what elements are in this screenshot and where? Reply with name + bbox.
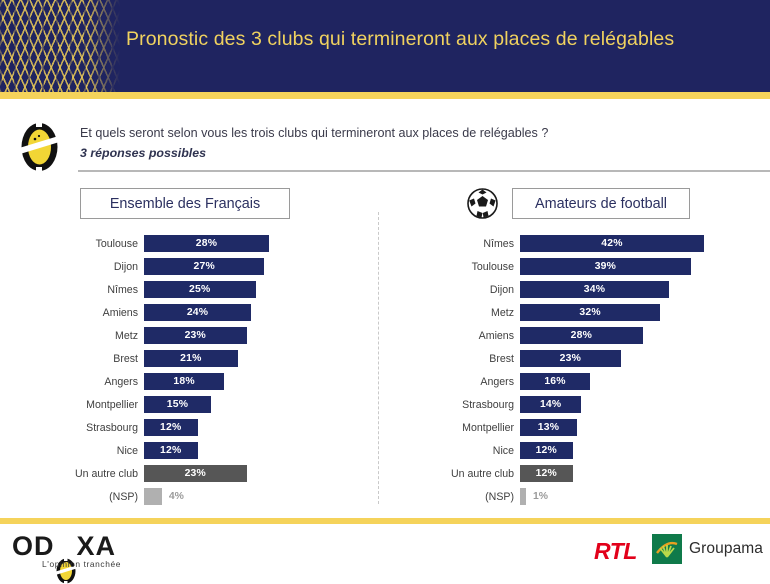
chart-row-label: Metz	[70, 330, 144, 342]
chart-row: Un autre club23%	[70, 462, 370, 485]
chart-row: Metz32%	[440, 301, 765, 324]
chart-bar: 34%	[520, 281, 669, 298]
chart-row: Dijon34%	[440, 278, 765, 301]
chart-bar: 12%	[520, 465, 573, 482]
chart-row: Amiens28%	[440, 324, 765, 347]
chart-row: Un autre club12%	[440, 462, 765, 485]
chart-row: Amiens24%	[70, 301, 370, 324]
chart-row-label: (NSP)	[70, 491, 144, 503]
chart-bar: 23%	[520, 350, 621, 367]
panel-title-ensemble-des-francais: Ensemble des Français	[80, 188, 290, 219]
chart-bar: 13%	[520, 419, 577, 436]
chart-row: Strasbourg12%	[70, 416, 370, 439]
survey-question-note: 3 réponses possibles	[80, 146, 206, 160]
chart-bar-value: 24%	[187, 307, 208, 318]
chart-row-label: Angers	[440, 376, 520, 388]
panel-title-amateurs-de-football: Amateurs de football	[512, 188, 690, 219]
chart-bar-value: 27%	[194, 261, 215, 272]
chart-ensemble-des-francais: Toulouse28%Dijon27%Nîmes25%Amiens24%Metz…	[70, 232, 370, 508]
page-title: Pronostic des 3 clubs qui termineront au…	[126, 28, 756, 51]
chart-bar-track: 13%	[520, 419, 765, 436]
chart-bar: 39%	[520, 258, 691, 275]
chart-row-label: Montpellier	[70, 399, 144, 411]
chart-bar-track: 23%	[520, 350, 765, 367]
chart-bar: 16%	[520, 373, 590, 390]
chart-amateurs-de-football: Nîmes42%Toulouse39%Dijon34%Metz32%Amiens…	[440, 232, 765, 508]
survey-question: Et quels seront selon vous les trois clu…	[80, 126, 720, 140]
chart-bar-track: 1%1%	[520, 488, 765, 505]
chart-bar-track: 12%	[144, 442, 370, 459]
chart-bar-track: 4%4%	[144, 488, 370, 505]
chart-bar-track: 14%	[520, 396, 765, 413]
chart-row-label: Nîmes	[70, 284, 144, 296]
chart-bar-value: 23%	[185, 468, 206, 479]
groupama-mark-icon	[652, 534, 682, 564]
chart-row-label: Amiens	[70, 307, 144, 319]
chart-row-label: Toulouse	[440, 261, 520, 273]
chart-bar-value: 12%	[536, 468, 557, 479]
chart-row: Montpellier15%	[70, 393, 370, 416]
chart-row-label: Un autre club	[70, 468, 144, 480]
chart-bar: 15%	[144, 396, 211, 413]
chart-row-label: Un autre club	[440, 468, 520, 480]
chart-bar-value-outside: 1%	[526, 491, 548, 502]
odoxa-logo: ODXA L'opinion tranchée	[12, 531, 192, 571]
chart-bar-value: 25%	[189, 284, 210, 295]
chart-bar: 28%	[520, 327, 643, 344]
chart-bar-value: 21%	[180, 353, 201, 364]
chart-row: Brest21%	[70, 347, 370, 370]
chart-bar-track: 12%	[520, 442, 765, 459]
chart-row-label: Strasbourg	[70, 422, 144, 434]
chart-row: Nice12%	[440, 439, 765, 462]
chart-row-label: Angers	[70, 376, 144, 388]
football-icon	[466, 187, 499, 220]
chart-row: Angers18%	[70, 370, 370, 393]
chart-bar: 12%	[520, 442, 573, 459]
chart-row: Angers16%	[440, 370, 765, 393]
chart-row-label: Strasbourg	[440, 399, 520, 411]
chart-bar-value-outside: 4%	[162, 491, 184, 502]
chart-row-label: Brest	[440, 353, 520, 365]
chart-row: Nîmes25%	[70, 278, 370, 301]
page-header: Pronostic des 3 clubs qui termineront au…	[0, 0, 770, 92]
chart-bar: 28%	[144, 235, 269, 252]
chart-bar-track: 25%	[144, 281, 370, 298]
chart-bar-track: 18%	[144, 373, 370, 390]
chart-row-label: Toulouse	[70, 238, 144, 250]
chart-bar-track: 23%	[144, 465, 370, 482]
gold-accent-bar-top	[0, 92, 770, 99]
chart-bar-track: 42%	[520, 235, 765, 252]
chart-row-label: Amiens	[440, 330, 520, 342]
chart-row: Toulouse39%	[440, 255, 765, 278]
chart-bar-value: 12%	[160, 445, 181, 456]
odoxa-text-part2: XA	[77, 531, 117, 561]
rtl-logo: RTL	[594, 538, 637, 565]
chart-row-label: Metz	[440, 307, 520, 319]
chart-bar-value: 23%	[185, 330, 206, 341]
chevron-pattern-overlay	[0, 0, 120, 92]
gold-accent-bar-bottom	[0, 518, 770, 524]
section-divider	[78, 170, 770, 172]
chart-row: Strasbourg14%	[440, 393, 765, 416]
chart-bar-track: 21%	[144, 350, 370, 367]
groupama-wordmark: Groupama	[682, 540, 763, 558]
chart-bar-value: 39%	[595, 261, 616, 272]
chart-bar-track: 28%	[520, 327, 765, 344]
chart-bar-track: 34%	[520, 281, 765, 298]
chart-bar-value: 14%	[540, 399, 561, 410]
chart-row: Dijon27%	[70, 255, 370, 278]
chart-bar-value: 42%	[601, 238, 622, 249]
chart-bar: 23%	[144, 465, 247, 482]
chart-row: Brest23%	[440, 347, 765, 370]
chart-bar-value: 16%	[544, 376, 565, 387]
chart-bar-track: 39%	[520, 258, 765, 275]
chart-bar-value: 28%	[571, 330, 592, 341]
chart-bar: 23%	[144, 327, 247, 344]
chart-bar-value: 18%	[173, 376, 194, 387]
chart-bar-track: 32%	[520, 304, 765, 321]
chart-bar: 12%	[144, 442, 198, 459]
chart-bar-track: 23%	[144, 327, 370, 344]
chart-row-label: Montpellier	[440, 422, 520, 434]
chart-row-label: Nice	[440, 445, 520, 457]
chart-bar: 21%	[144, 350, 238, 367]
groupama-logo: Groupama	[652, 534, 763, 564]
chart-bar-value: 34%	[584, 284, 605, 295]
chart-bar-track: 12%	[520, 465, 765, 482]
chart-row: Metz23%	[70, 324, 370, 347]
chart-row-label: Nice	[70, 445, 144, 457]
chart-bar: 18%	[144, 373, 224, 390]
chart-bar-track: 15%	[144, 396, 370, 413]
chart-bar: 27%	[144, 258, 264, 275]
chart-row: Toulouse28%	[70, 232, 370, 255]
chart-row: (NSP)4%4%	[70, 485, 370, 508]
odoxa-wordmark: ODXA	[12, 531, 116, 562]
chart-bar: 24%	[144, 304, 251, 321]
chart-bar-value: 12%	[160, 422, 181, 433]
chart-bar-track: 28%	[144, 235, 370, 252]
chart-bar-value: 23%	[560, 353, 581, 364]
chart-row-label: (NSP)	[440, 491, 520, 503]
chart-bar-value: 32%	[579, 307, 600, 318]
chart-bar-value: 12%	[536, 445, 557, 456]
chart-bar: 14%	[520, 396, 581, 413]
chart-row-label: Dijon	[440, 284, 520, 296]
chart-bar-value: 28%	[196, 238, 217, 249]
chart-row: Montpellier13%	[440, 416, 765, 439]
chart-row-label: Brest	[70, 353, 144, 365]
odoxa-mark-icon	[18, 121, 61, 173]
chart-bar: 32%	[520, 304, 660, 321]
chart-bar-track: 24%	[144, 304, 370, 321]
chart-row: Nice12%	[70, 439, 370, 462]
chart-bar-track: 12%	[144, 419, 370, 436]
odoxa-text-part1: OD	[12, 531, 55, 561]
chart-bar: 42%	[520, 235, 704, 252]
chart-bar-value: 15%	[167, 399, 188, 410]
chart-bar-value: 13%	[538, 422, 559, 433]
odoxa-tagline: L'opinion tranchée	[42, 559, 121, 569]
chart-bar-track: 16%	[520, 373, 765, 390]
chart-bar: 25%	[144, 281, 256, 298]
chart-row: Nîmes42%	[440, 232, 765, 255]
chart-row-label: Nîmes	[440, 238, 520, 250]
chart-row-label: Dijon	[70, 261, 144, 273]
chart-bar-track: 27%	[144, 258, 370, 275]
chart-bar: 12%	[144, 419, 198, 436]
chart-row: (NSP)1%1%	[440, 485, 765, 508]
vertical-divider	[378, 212, 379, 504]
chart-bar: 4%	[144, 488, 162, 505]
